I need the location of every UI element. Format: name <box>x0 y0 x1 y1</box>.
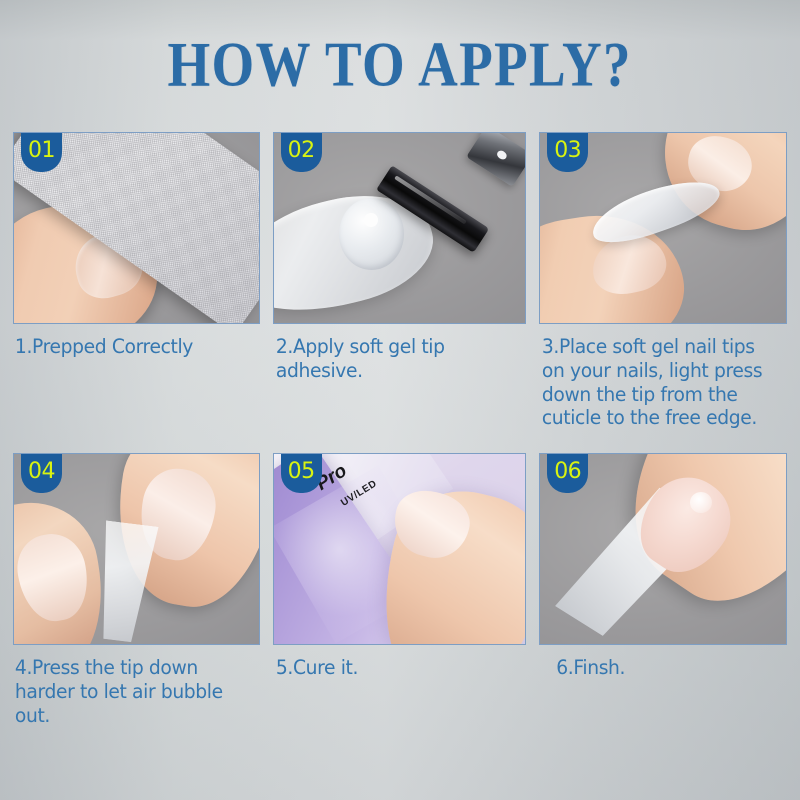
step-caption-4: 4.Press the tip down harder to let air b… <box>13 656 250 727</box>
step-caption-5: 5.Cure it. <box>273 656 516 680</box>
header: HOW TO APPLY? <box>0 0 800 128</box>
step-badge-1: 01 <box>21 133 62 172</box>
step-card-6: 06 6.Finsh. <box>533 453 800 727</box>
step-badge-4: 04 <box>21 454 62 493</box>
step-badge-number: 05 <box>288 461 315 483</box>
step-caption-2: 2.Apply soft gel tip adhesive. <box>273 335 516 383</box>
step-image-1: 01 <box>13 132 260 324</box>
steps-row-top: 01 1.Prepped Correctly 02 2.Ap <box>0 132 800 430</box>
adhesive-highlight <box>364 213 378 227</box>
step-caption-3: 3.Place soft gel nail tips on your nails… <box>539 335 777 430</box>
steps-row-bottom: 04 4.Press the tip down harder to let ai… <box>0 453 800 727</box>
step-badge-number: 04 <box>28 461 55 483</box>
step-image-6: 06 <box>539 453 787 645</box>
step-image-2: 02 <box>273 132 527 324</box>
step-badge-3: 03 <box>547 133 588 172</box>
step-card-1: 01 1.Prepped Correctly <box>0 132 267 430</box>
adhesive-drop <box>339 198 404 270</box>
step-badge-number: 03 <box>554 140 581 162</box>
step-card-5: Pro UV/LED 05 5.Cure it. <box>267 453 534 727</box>
step-image-4: 04 <box>13 453 260 645</box>
step-badge-5: 05 <box>281 454 322 493</box>
step-card-2: 02 2.Apply soft gel tip adhesive. <box>267 132 534 430</box>
step-caption-6: 6.Finsh. <box>539 656 777 680</box>
step-card-3: 03 3.Place soft gel nail tips on your na… <box>533 132 800 430</box>
step-badge-number: 06 <box>554 461 581 483</box>
step-card-4: 04 4.Press the tip down harder to let ai… <box>0 453 267 727</box>
step-image-3: 03 <box>539 132 787 324</box>
step-badge-number: 02 <box>288 140 315 162</box>
step-image-5: Pro UV/LED 05 <box>273 453 527 645</box>
steps-grid: 01 1.Prepped Correctly 02 2.Ap <box>0 132 800 727</box>
step-badge-number: 01 <box>28 140 55 162</box>
gloss-highlight <box>690 492 712 513</box>
step-badge-6: 06 <box>547 454 588 493</box>
step-badge-2: 02 <box>281 133 322 172</box>
page-title: HOW TO APPLY? <box>168 32 632 96</box>
step-caption-1: 1.Prepped Correctly <box>13 335 250 359</box>
